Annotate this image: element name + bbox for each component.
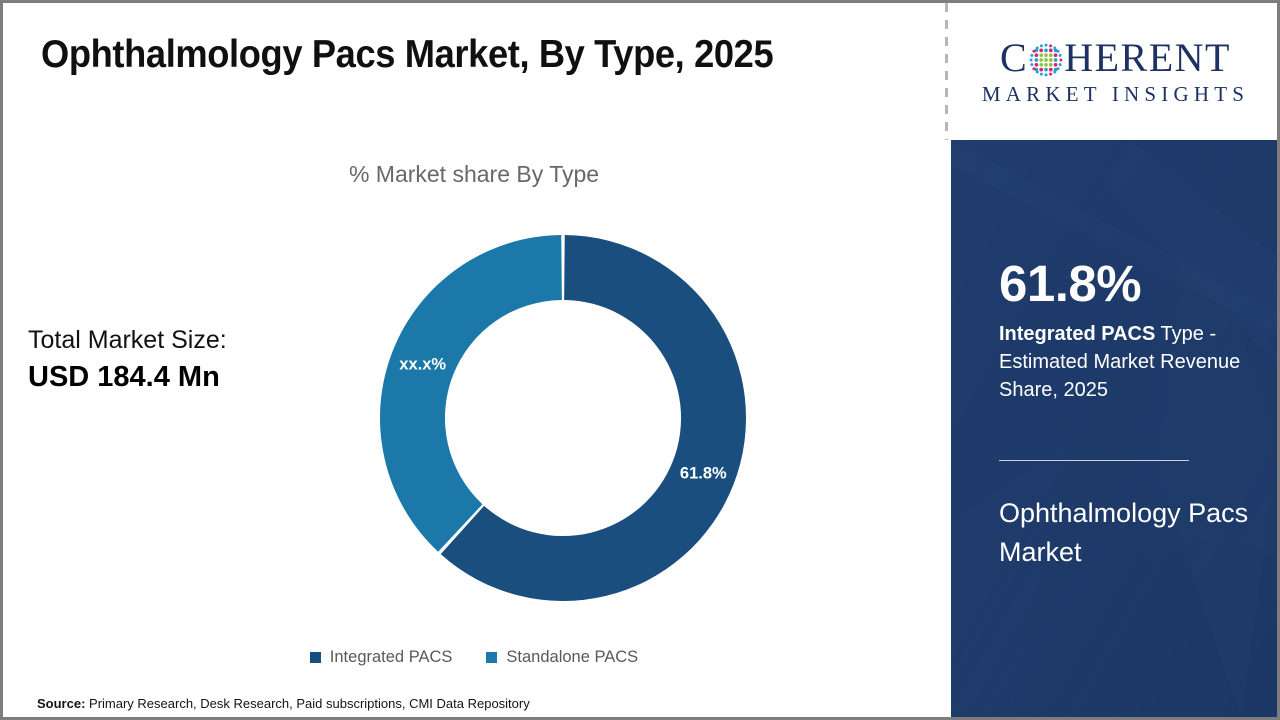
chart-legend: Integrated PACSStandalone PACS	[3, 648, 945, 667]
legend-item[interactable]: Integrated PACS	[310, 648, 453, 667]
source-label: Source:	[37, 696, 85, 711]
brand-panel: C HERENT MARKET INSIGHTS	[951, 3, 1280, 717]
logo-letters-herent: HERENT	[1064, 38, 1231, 78]
total-market-size-value: USD 184.4 Mn	[28, 357, 328, 397]
globe-icon	[1029, 43, 1063, 77]
donut-slices	[380, 235, 746, 601]
page-title: Ophthalmology Pacs Market, By Type, 2025	[41, 33, 773, 77]
headline-description: Integrated PACS Type - Estimated Market …	[999, 320, 1241, 404]
chart-panel: Ophthalmology Pacs Market, By Type, 2025…	[3, 3, 945, 717]
info-panel: 61.8% Integrated PACS Type - Estimated M…	[951, 140, 1280, 717]
headline-description-bold: Integrated PACS	[999, 323, 1155, 345]
donut-slice-label: 61.8%	[680, 465, 727, 483]
info-panel-rule	[999, 460, 1189, 461]
donut-slice	[380, 235, 562, 552]
legend-swatch-icon	[486, 652, 497, 663]
donut-slice-label: xx.x%	[399, 355, 446, 373]
total-market-size-label: Total Market Size:	[28, 323, 328, 357]
legend-label: Standalone PACS	[506, 648, 638, 667]
donut-chart: 61.8%xx.x%	[373, 228, 753, 608]
info-panel-content: 61.8% Integrated PACS Type - Estimated M…	[999, 140, 1261, 717]
logo-wordmark: C HERENT	[1000, 38, 1231, 78]
company-logo: C HERENT MARKET INSIGHTS	[951, 3, 1280, 140]
legend-item[interactable]: Standalone PACS	[486, 648, 638, 667]
infographic-page: Ophthalmology Pacs Market, By Type, 2025…	[0, 0, 1280, 720]
source-note: Source: Primary Research, Desk Research,…	[37, 696, 530, 711]
legend-swatch-icon	[310, 652, 321, 663]
legend-label: Integrated PACS	[330, 648, 453, 667]
chart-subtitle: % Market share By Type	[3, 161, 945, 188]
donut-chart-svg: 61.8%xx.x%	[373, 228, 753, 608]
headline-percentage: 61.8%	[999, 258, 1141, 309]
panel-divider	[945, 3, 948, 140]
logo-tagline: MARKET INSIGHTS	[982, 84, 1249, 105]
market-name: Ophthalmology Pacs Market	[999, 494, 1249, 572]
source-text: Primary Research, Desk Research, Paid su…	[85, 696, 529, 711]
total-market-size-block: Total Market Size: USD 184.4 Mn	[28, 323, 328, 397]
logo-letter-c: C	[1000, 38, 1028, 78]
